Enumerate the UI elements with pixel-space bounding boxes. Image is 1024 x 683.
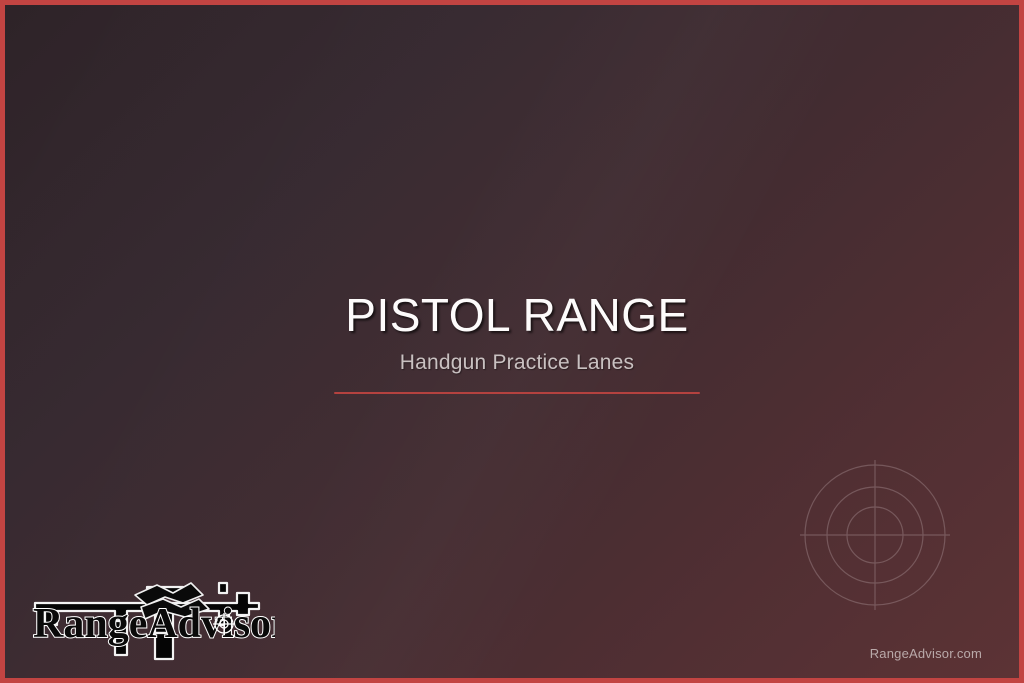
slide-canvas: PISTOL RANGE Handgun Practice Lanes bbox=[0, 0, 1024, 683]
target-reticle-icon bbox=[800, 460, 950, 610]
watermark-text: RangeAdvisor.com bbox=[870, 646, 982, 661]
page-subtitle: Handgun Practice Lanes bbox=[5, 351, 1024, 375]
title-block: PISTOL RANGE Handgun Practice Lanes bbox=[5, 291, 1024, 394]
page-title: PISTOL RANGE bbox=[5, 291, 1024, 341]
title-divider bbox=[334, 392, 700, 394]
brand-wordmark: RangeAdvisor bbox=[33, 601, 275, 647]
brand-logo: RangeAdvisor bbox=[23, 563, 275, 671]
